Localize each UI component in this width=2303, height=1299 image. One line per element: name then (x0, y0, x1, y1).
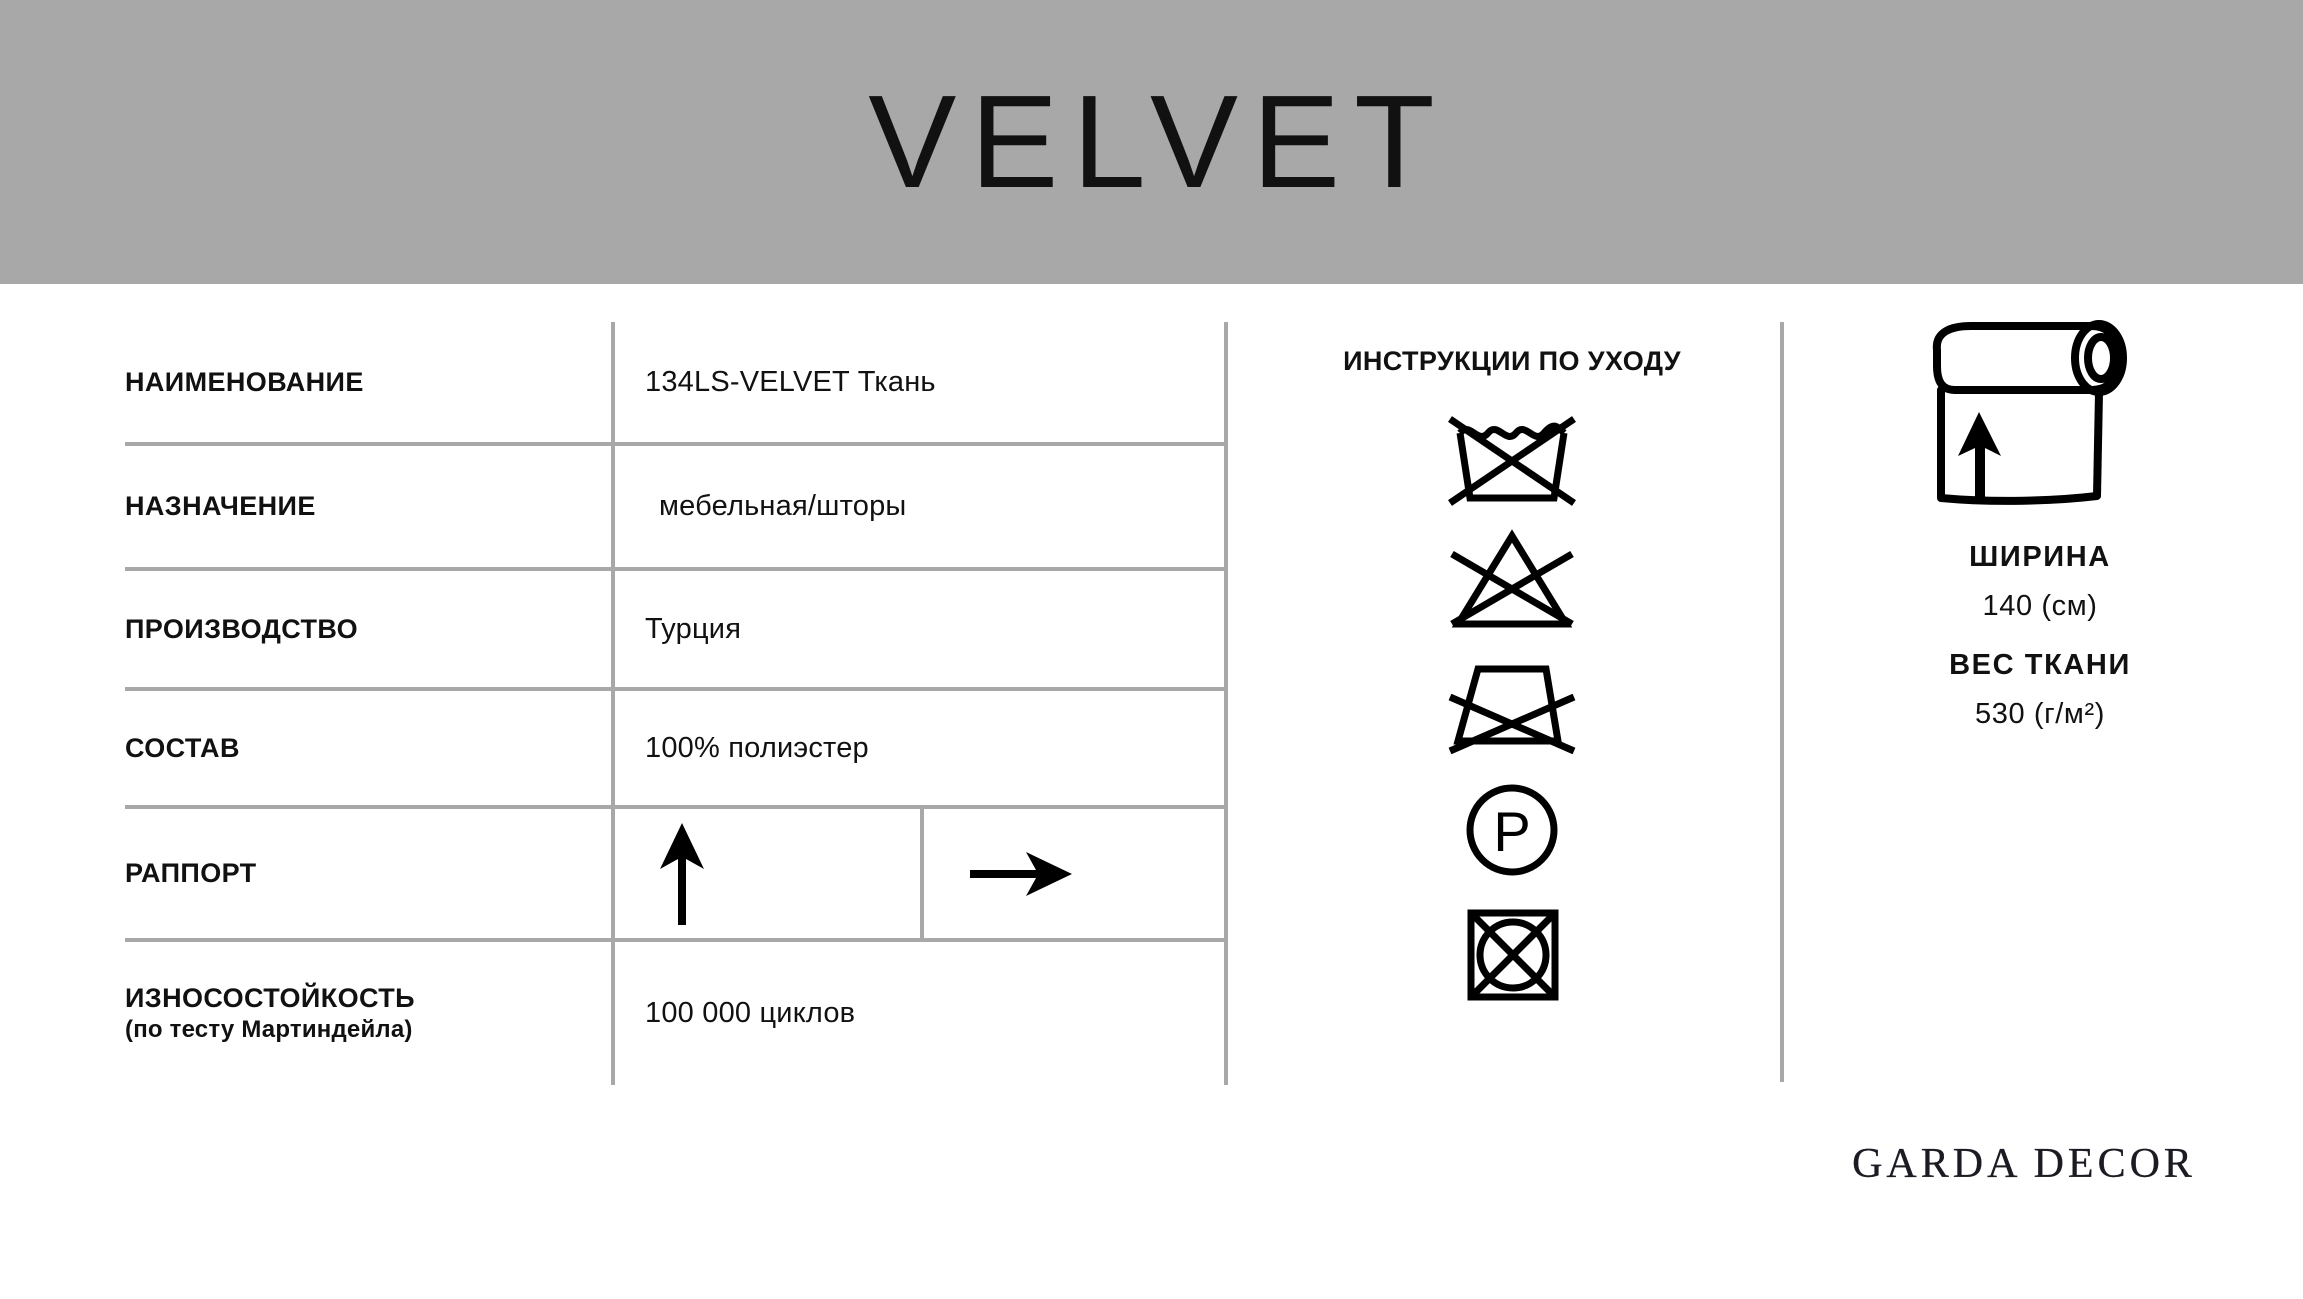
brand-logo: GARDA DECOR (1834, 1140, 2214, 1188)
care-symbol-list: P (1252, 403, 1772, 1012)
arrow-up-icon (659, 823, 705, 925)
arrow-right-icon (970, 851, 1072, 897)
table-row: НАЗНАЧЕНИЕ мебельная/шторы (125, 442, 1228, 567)
spec-label: РАППОРТ (125, 857, 611, 890)
weight-value: 530 (г/м²) (1975, 698, 2105, 731)
do-not-iron-icon (1442, 653, 1582, 762)
care-instructions-title: ИНСТРУКЦИИ ПО УХОДУ (1252, 322, 1772, 377)
spec-label: ПРОИЗВОДСТВО (125, 613, 611, 646)
spec-label: СОСТАВ (125, 732, 611, 765)
do-not-wash-icon (1442, 403, 1582, 512)
weight-label: ВЕС ТКАНИ (1949, 649, 2131, 682)
repeat-horizontal-cell (920, 809, 1229, 938)
spec-value: 134LS-VELVET Ткань (611, 366, 1228, 399)
spec-label: НАИМЕНОВАНИЕ (125, 366, 611, 399)
spec-label: НАЗНАЧЕНИЕ (125, 490, 611, 523)
spec-table: НАИМЕНОВАНИЕ 134LS-VELVET Ткань НАЗНАЧЕН… (125, 322, 1228, 1085)
page-title: VELVET (854, 76, 1448, 208)
spec-value: мебельная/шторы (611, 490, 1228, 523)
repeat-cells (611, 809, 1228, 938)
do-not-tumble-dry-icon (1453, 903, 1571, 1012)
spec-column-divider (611, 322, 615, 1085)
table-row: РАППОРТ (125, 805, 1228, 938)
svg-text:P: P (1493, 800, 1530, 863)
spec-label: ИЗНОСОСТОЙКОСТЬ (по тесту Мартиндейла) (125, 982, 611, 1044)
spec-value: 100% полиэстер (611, 732, 1228, 765)
table-row: ПРОИЗВОДСТВО Турция (125, 567, 1228, 687)
table-row: НАИМЕНОВАНИЕ 134LS-VELVET Ткань (125, 322, 1228, 442)
spec-value: 100 000 циклов (611, 997, 1228, 1030)
header-band: VELVET (0, 0, 2303, 284)
spec-label-sub: (по тесту Мартиндейла) (125, 1015, 597, 1044)
table-row: ИЗНОСОСТОЙКОСТЬ (по тесту Мартиндейла) 1… (125, 938, 1228, 1085)
fabric-roll-icon (1915, 320, 2165, 515)
spec-label-main: ИЗНОСОСТОЙКОСТЬ (125, 983, 415, 1013)
care-instructions-section: ИНСТРУКЦИИ ПО УХОДУ (1252, 322, 1772, 1012)
do-not-bleach-icon (1442, 528, 1582, 637)
care-section-right-divider (1780, 322, 1784, 1082)
width-label: ШИРИНА (1969, 541, 2111, 574)
table-row: СОСТАВ 100% полиэстер (125, 687, 1228, 805)
repeat-vertical-cell (611, 809, 920, 938)
professional-dry-clean-p-icon: P (1453, 778, 1571, 887)
dimensions-section: ШИРИНА 140 (см) ВЕС ТКАНИ 530 (г/м²) (1820, 320, 2260, 731)
width-value: 140 (см) (1983, 590, 2098, 623)
spec-right-edge (1224, 322, 1228, 1085)
spec-value: Турция (611, 613, 1228, 646)
